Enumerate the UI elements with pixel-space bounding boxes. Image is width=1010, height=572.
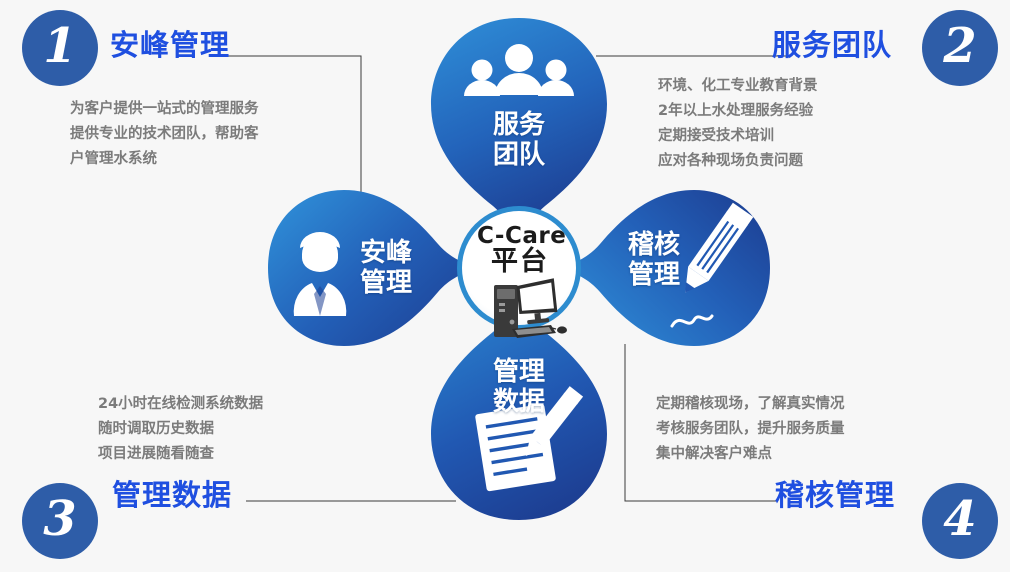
petal-label-anfeng-management: 安峰 管理 <box>346 238 426 298</box>
petal-label-audit-management: 稽核 管理 <box>614 230 694 290</box>
quadrant-body-4: 定期稽核现场，了解真实情况 考核服务团队，提升服务质量 集中解决客户难点 <box>656 392 845 467</box>
quadrant-body-1: 为客户提供一站式的管理服务 提供专业的技术团队，帮助客 户管理水系统 <box>70 97 259 172</box>
quadrant-2-line-3: 定期接受技术培训 <box>658 124 818 149</box>
badge-number-1[interactable]: 1 <box>22 10 98 86</box>
quadrant-2-line-4: 应对各种现场负责问题 <box>658 149 818 174</box>
badge-number-2[interactable]: 2 <box>922 10 998 86</box>
quadrant-body-3: 24小时在线检测系统数据 随时调取历史数据 项目进展随看随查 <box>98 392 263 467</box>
badge-number-3[interactable]: 3 <box>22 483 98 559</box>
quadrant-body-2: 环境、化工专业教育背景 2年以上水处理服务经验 定期接受技术培训 应对各种现场负… <box>658 74 818 174</box>
quadrant-2-line-2: 2年以上水处理服务经验 <box>658 99 818 124</box>
quadrant-1-line-1: 为客户提供一站式的管理服务 <box>70 97 259 122</box>
quadrant-1-line-3: 户管理水系统 <box>70 147 259 172</box>
badge-number-4[interactable]: 4 <box>922 483 998 559</box>
hub-title-cn: 平台 <box>477 248 563 276</box>
quadrant-title-1: 安峰管理 <box>110 22 230 64</box>
badge-number-4-text: 4 <box>943 495 976 543</box>
quadrant-title-2: 服务团队 <box>772 22 892 64</box>
quadrant-3-line-2: 随时调取历史数据 <box>98 417 263 442</box>
quadrant-title-3: 管理数据 <box>112 472 232 514</box>
badge-number-2-text: 2 <box>943 22 976 70</box>
quadrant-2-line-1: 环境、化工专业教育背景 <box>658 74 818 99</box>
petal-label-service-team: 服务 团队 <box>479 110 559 170</box>
hub-title-en: C-Care <box>477 224 563 248</box>
quadrant-4-line-3: 集中解决客户难点 <box>656 442 845 467</box>
quadrant-4-line-1: 定期稽核现场，了解真实情况 <box>656 392 845 417</box>
infographic-canvas: 服务 团队 安峰 管理 稽核 管理 管理 数据 C-Care 平台 1 2 3 … <box>0 0 1010 572</box>
quadrant-1-line-2: 提供专业的技术团队，帮助客 <box>70 122 259 147</box>
badge-number-1-text: 1 <box>43 22 76 70</box>
quadrant-3-line-1: 24小时在线检测系统数据 <box>98 392 263 417</box>
quadrant-title-4: 稽核管理 <box>775 472 895 514</box>
quadrant-4-line-2: 考核服务团队，提升服务质量 <box>656 417 845 442</box>
badge-number-3-text: 3 <box>43 495 76 543</box>
quadrant-3-line-3: 项目进展随看随查 <box>98 442 263 467</box>
petal-label-management-data: 管理 数据 <box>479 357 559 417</box>
